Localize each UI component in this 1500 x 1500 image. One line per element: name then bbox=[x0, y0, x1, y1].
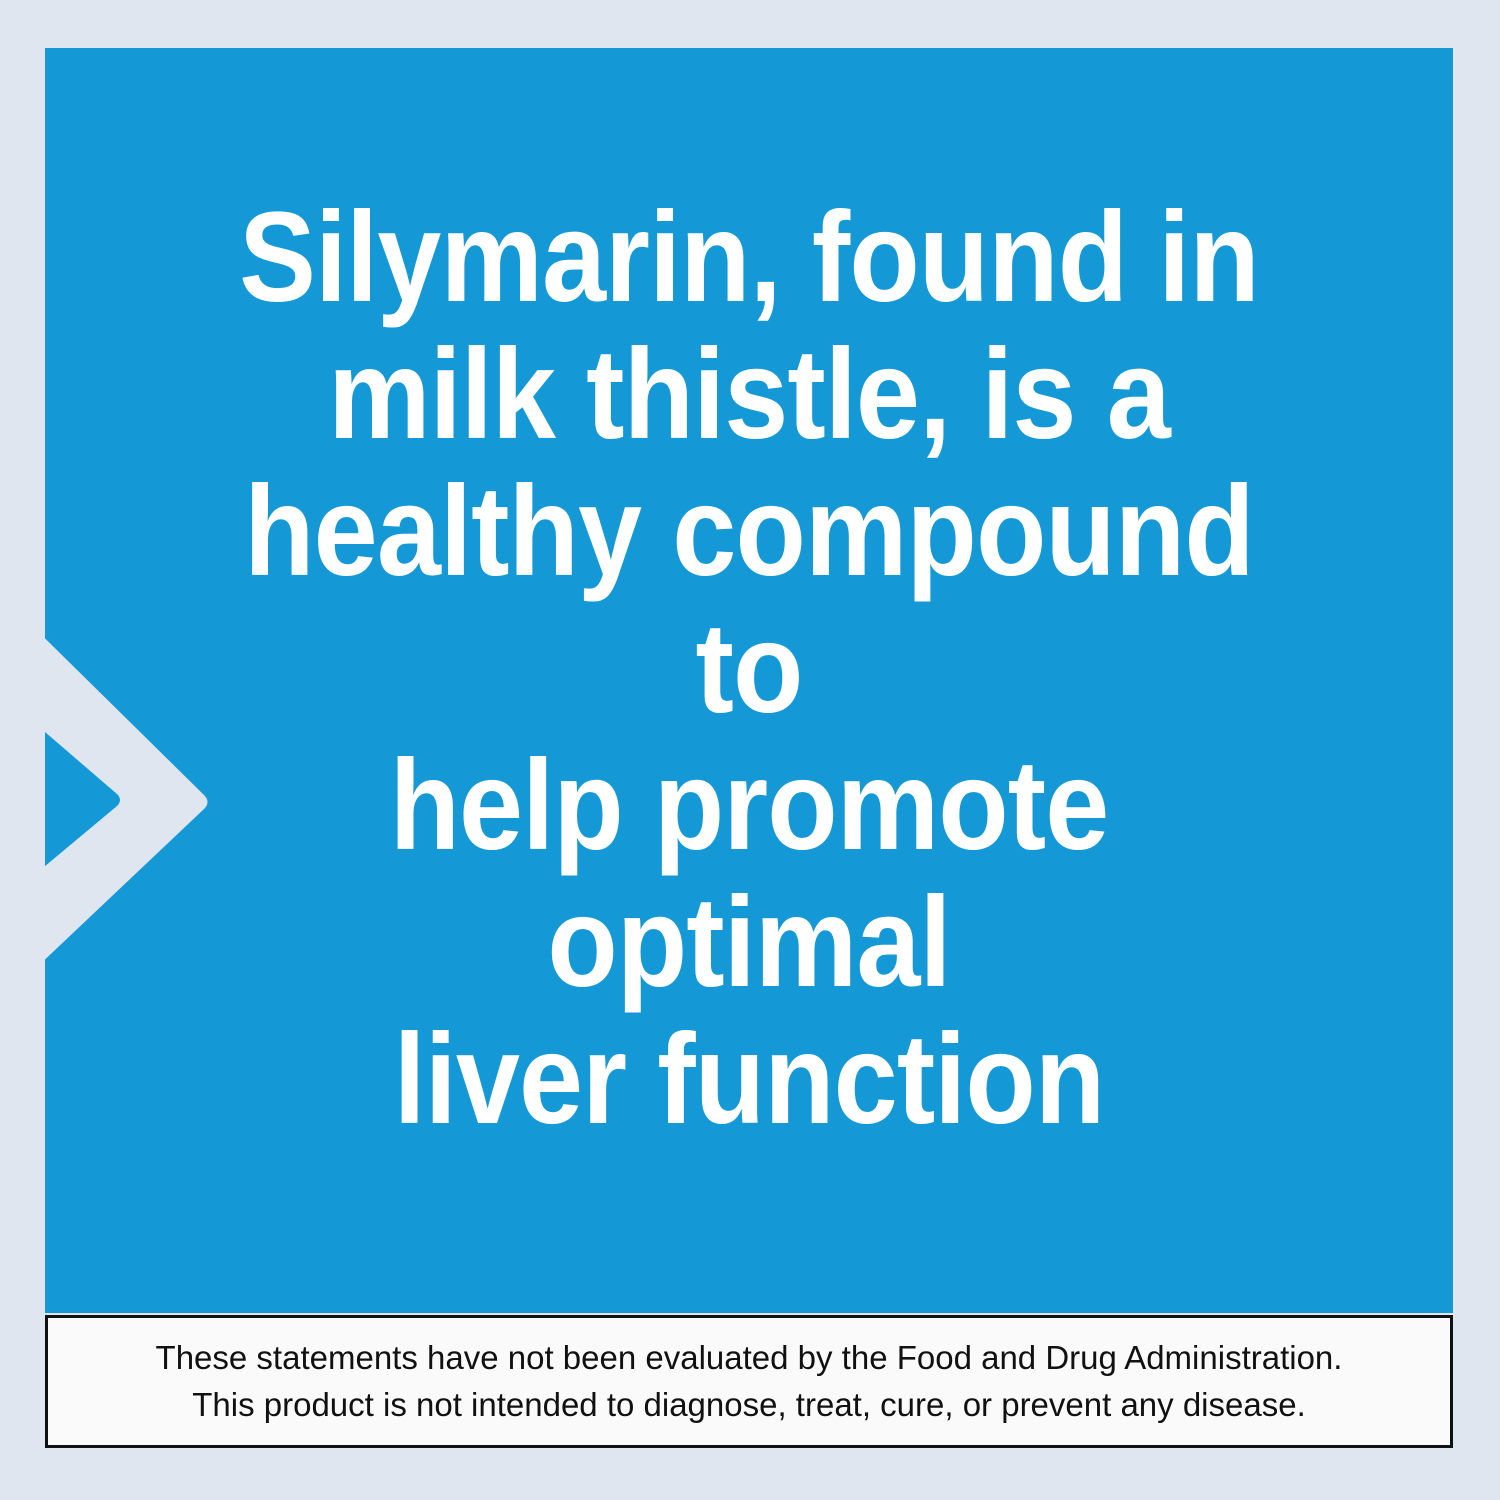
disclaimer-line-1: These statements have not been evaluated… bbox=[156, 1335, 1343, 1381]
marketing-card: Silymarin, found in milk thistle, is a h… bbox=[0, 0, 1500, 1500]
fda-disclaimer-box: These statements have not been evaluated… bbox=[45, 1315, 1453, 1448]
headline-container: Silymarin, found in milk thistle, is a h… bbox=[45, 48, 1453, 1313]
disclaimer-line-2: This product is not intended to diagnose… bbox=[192, 1382, 1306, 1428]
hero-panel: Silymarin, found in milk thistle, is a h… bbox=[45, 48, 1453, 1313]
page-title: Silymarin, found in milk thistle, is a h… bbox=[236, 190, 1262, 1171]
